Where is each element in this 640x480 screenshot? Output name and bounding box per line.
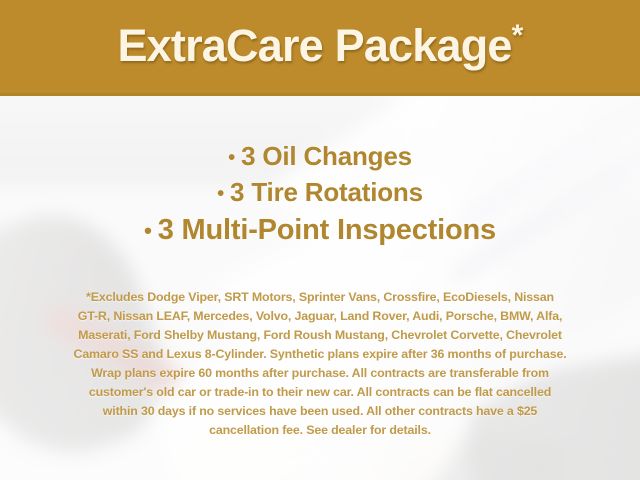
disclaimer-line: *Excludes Dodge Viper, SRT Motors, Sprin… <box>30 288 610 307</box>
page-title-asterisk: * <box>512 19 523 52</box>
header-band: ExtraCare Package* <box>0 0 640 96</box>
benefit-item-label: 3 Oil Changes <box>241 141 412 171</box>
benefit-item-label: 3 Multi-Point Inspections <box>158 214 496 246</box>
disclaimer-text: *Excludes Dodge Viper, SRT Motors, Sprin… <box>30 288 610 440</box>
disclaimer-line: Maserati, Ford Shelby Mustang, Ford Rous… <box>30 326 610 345</box>
disclaimer-line: GT-R, Nissan LEAF, Mercedes, Volvo, Jagu… <box>30 307 610 326</box>
disclaimer-line: cancellation fee. See dealer for details… <box>30 421 610 440</box>
extracare-package-promo-card: ExtraCare Package* •3 Oil Changes •3 Tir… <box>0 0 640 480</box>
benefits-list: •3 Oil Changes •3 Tire Rotations •3 Mult… <box>0 140 640 250</box>
benefit-item-oil-changes: •3 Oil Changes <box>0 140 640 175</box>
bullet-icon: • <box>217 183 224 205</box>
bullet-icon: • <box>144 218 152 243</box>
benefit-item-label: 3 Tire Rotations <box>230 177 423 207</box>
page-title: ExtraCare Package* <box>0 13 640 79</box>
disclaimer-line: Wrap plans expire 60 months after purcha… <box>30 364 610 383</box>
bullet-icon: • <box>228 147 235 169</box>
page-title-text: ExtraCare Package <box>117 20 511 71</box>
benefit-item-multi-point-inspections: •3 Multi-Point Inspections <box>0 211 640 250</box>
disclaimer-line: customer's old car or trade-in to their … <box>30 383 610 402</box>
disclaimer-line: within 30 days if no services have been … <box>30 402 610 421</box>
disclaimer-line: Camaro SS and Lexus 8-Cylinder. Syntheti… <box>30 345 610 364</box>
benefit-item-tire-rotations: •3 Tire Rotations <box>0 175 640 211</box>
